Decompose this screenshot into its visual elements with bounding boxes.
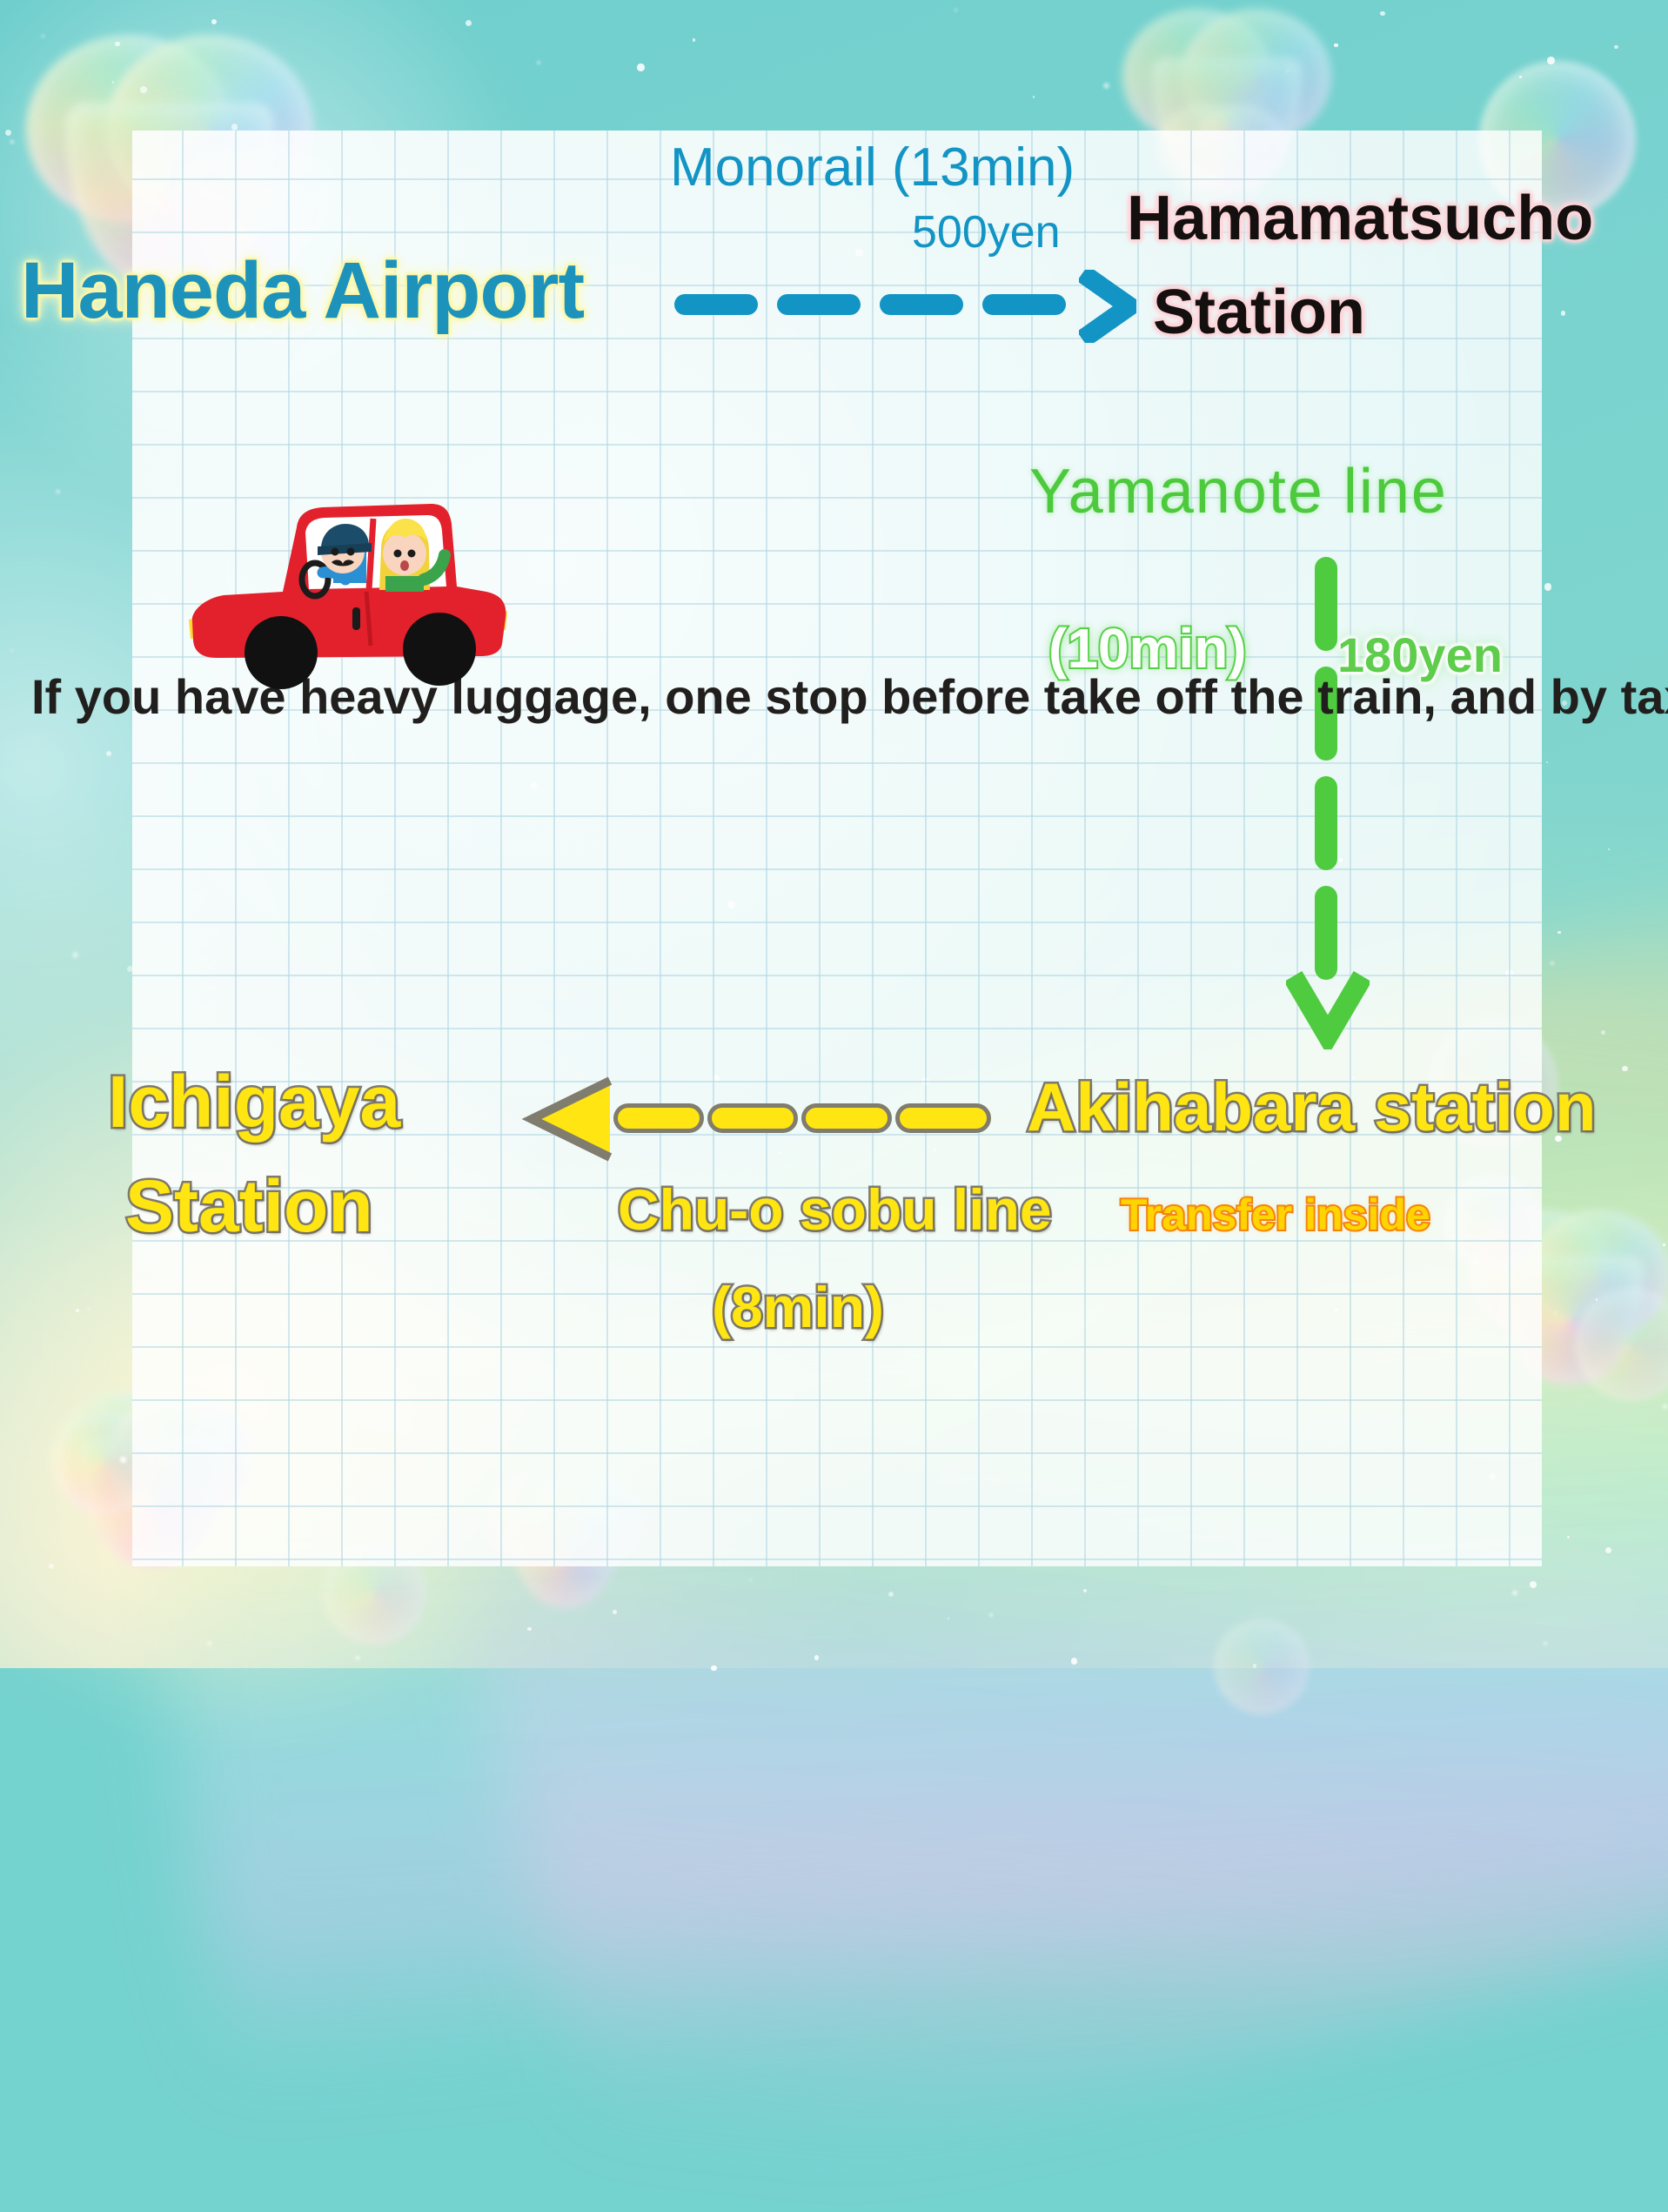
sobu-duration-label: (8min) xyxy=(712,1277,884,1337)
ichigaya-label-line1: Ichigaya xyxy=(108,1063,400,1140)
ichigaya-label-line2: Station xyxy=(125,1168,373,1244)
akihabara-station-label: Akihabara station xyxy=(1027,1072,1597,1143)
hamamatsucho-label-line2: Station xyxy=(1153,280,1365,346)
dashed-arrow-down-icon xyxy=(1296,557,1357,1036)
dashed-arrow-left-icon xyxy=(526,1077,992,1161)
transfer-inside-label: Transfer inside xyxy=(1121,1192,1430,1238)
hamamatsucho-label-line1: Hamamatsucho xyxy=(1127,186,1593,252)
yamanote-line-label: Yamanote line xyxy=(1029,459,1448,526)
haneda-airport-label: Haneda Airport xyxy=(21,249,584,333)
sobu-line-label: Chu-o sobu line xyxy=(618,1180,1052,1240)
dashed-arrow-right-icon xyxy=(674,271,1131,341)
monorail-fare-label: 500yen xyxy=(912,209,1061,257)
monorail-line-label: Monorail (13min) xyxy=(670,139,1075,196)
red-car-illustration xyxy=(178,489,518,689)
route-diagram: Monorail (13min) 500yen Haneda Airport H… xyxy=(0,0,1668,1668)
